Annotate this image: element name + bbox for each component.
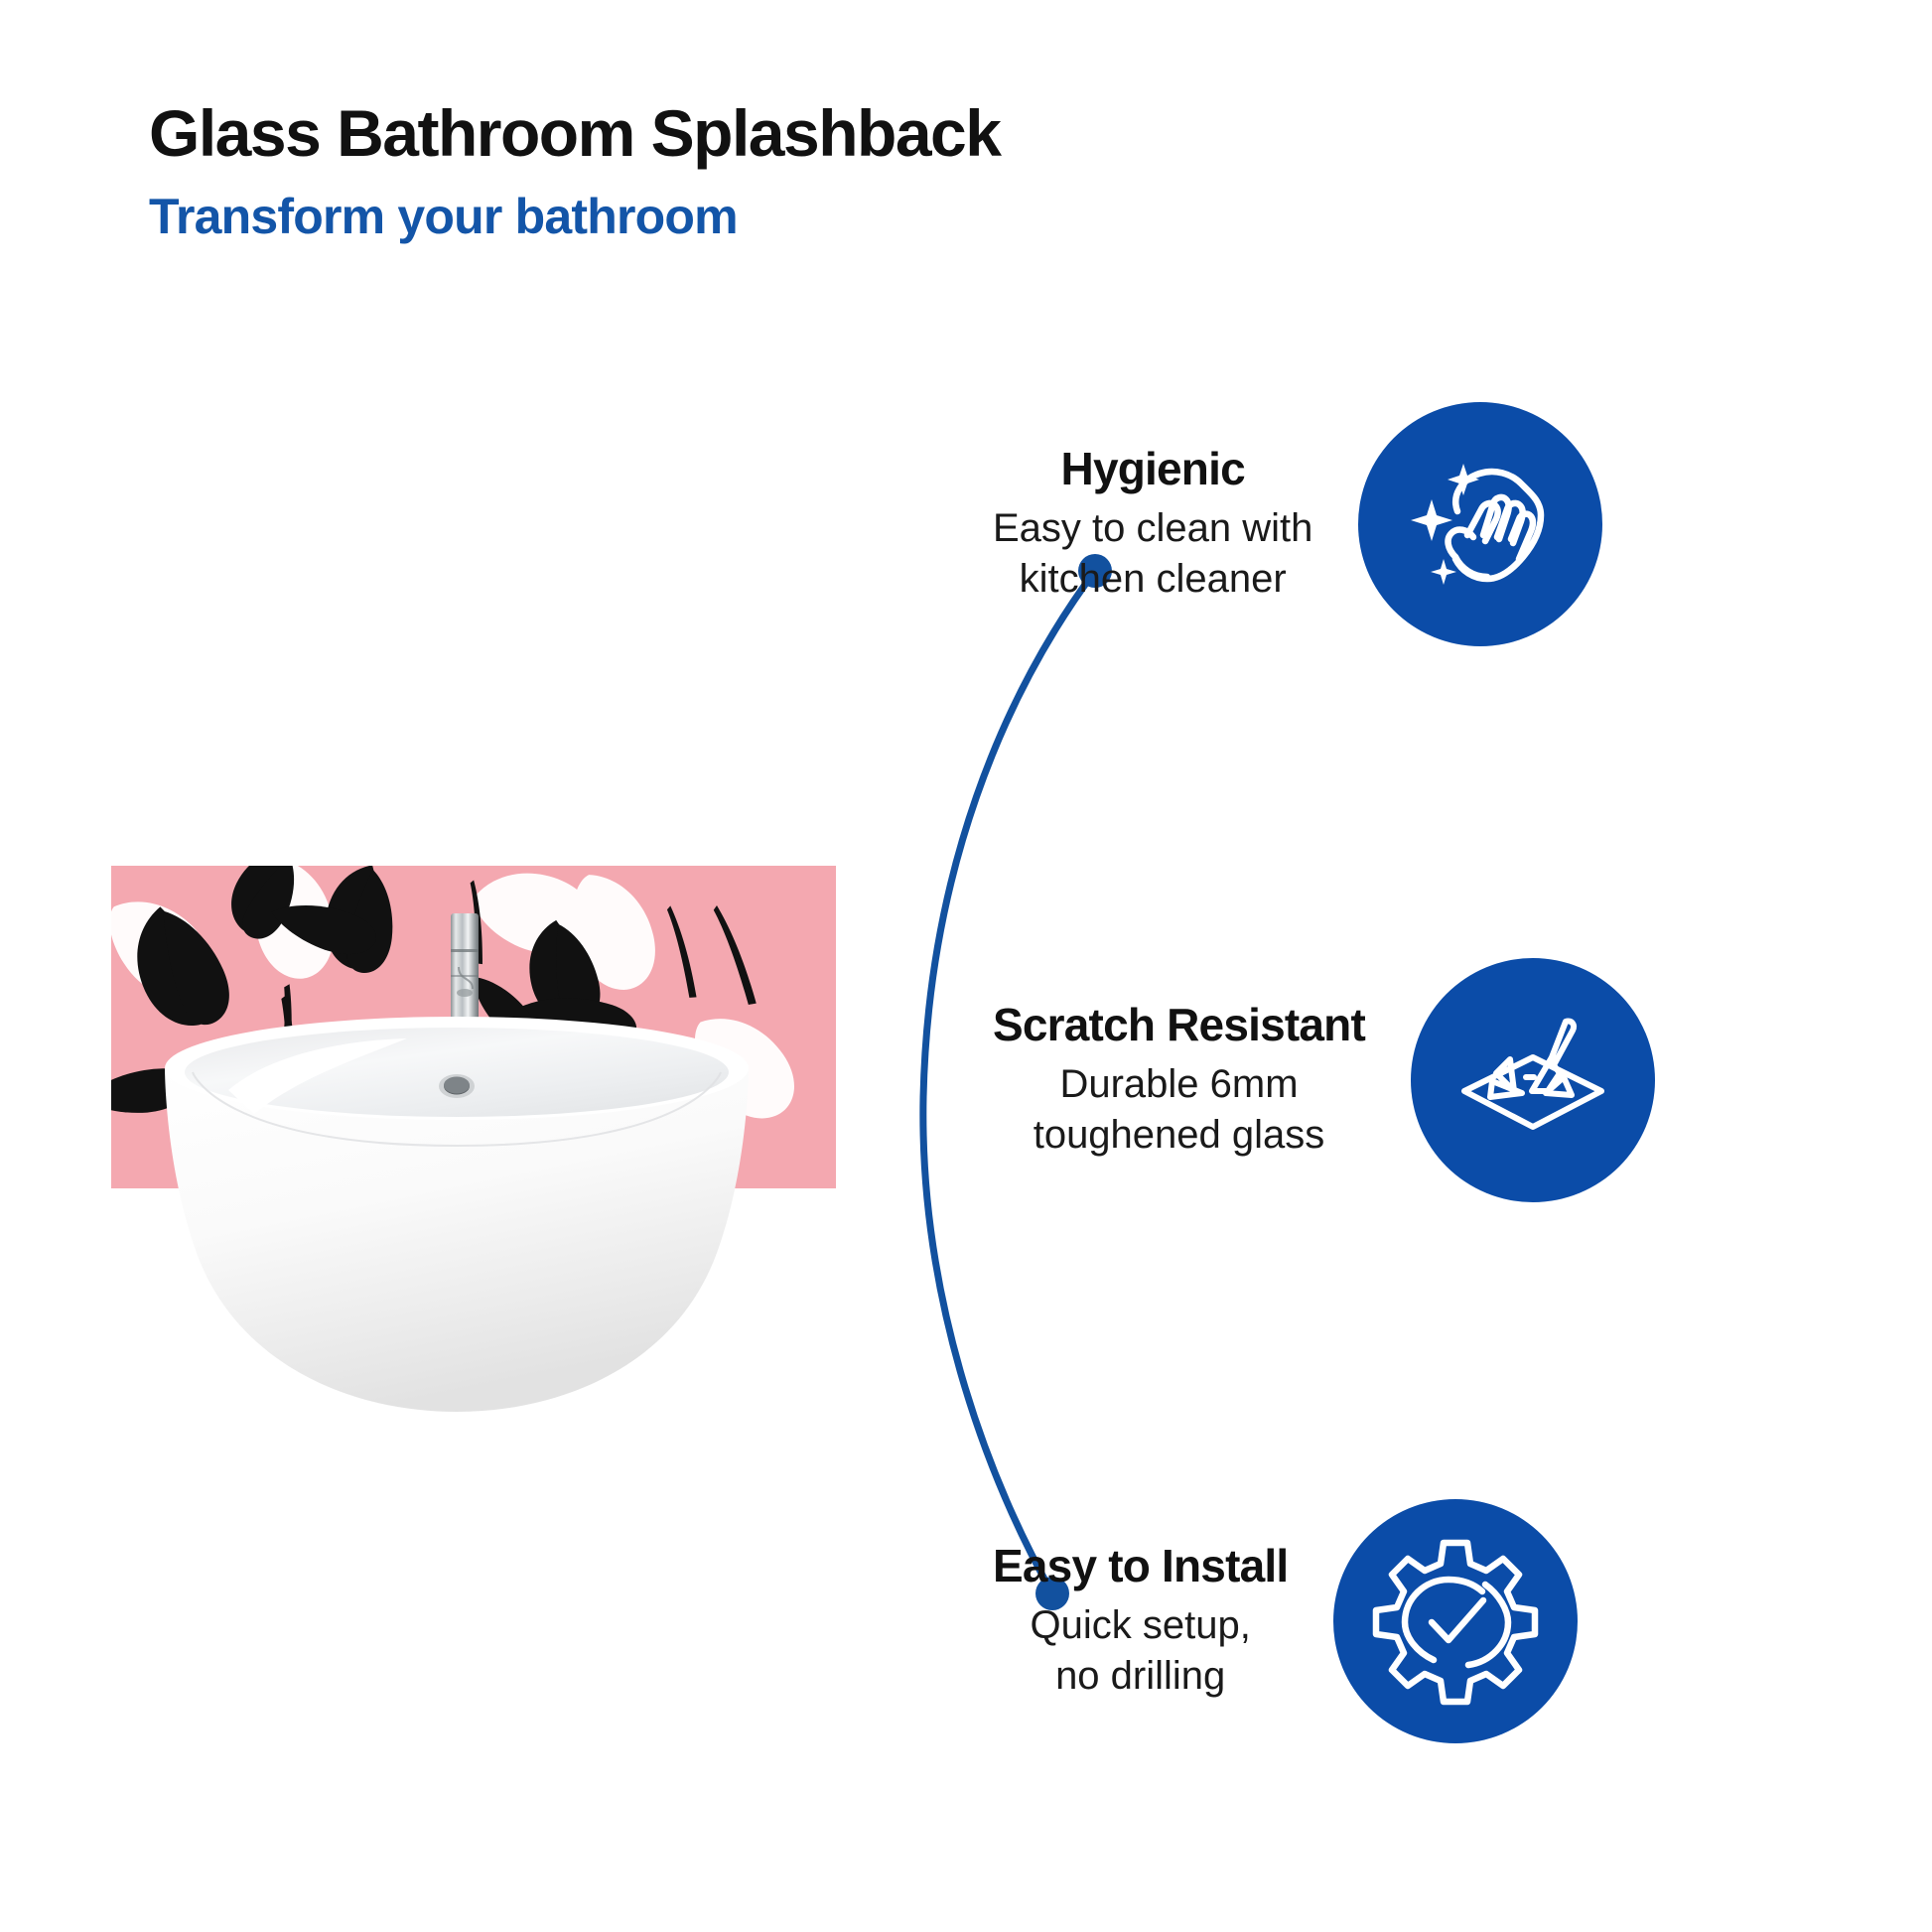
feature-scratch-resistant-title: Scratch Resistant bbox=[993, 999, 1365, 1051]
feature-hygienic-text: Hygienic Easy to clean with kitchen clea… bbox=[993, 443, 1312, 605]
page-subtitle: Transform your bathroom bbox=[149, 190, 1000, 244]
basin-tap bbox=[439, 913, 490, 1084]
infographic-page: Glass Bathroom Splashback Transform your… bbox=[0, 0, 1932, 1932]
feature-easy-to-install-title: Easy to Install bbox=[993, 1540, 1288, 1592]
feature-hygienic-desc: Easy to clean with kitchen cleaner bbox=[993, 503, 1312, 605]
feature-hygienic-title: Hygienic bbox=[993, 443, 1312, 495]
feature-easy-to-install-desc: Quick setup, no drilling bbox=[993, 1600, 1288, 1702]
feature-scratch-resistant-text: Scratch Resistant Durable 6mm toughened … bbox=[993, 999, 1365, 1161]
feature-easy-to-install-text: Easy to Install Quick setup, no drilling bbox=[993, 1540, 1288, 1702]
scratch-resistant-icon-badge bbox=[1411, 958, 1655, 1202]
easy-to-install-icon-badge bbox=[1333, 1499, 1578, 1743]
feature-scratch-resistant-desc: Durable 6mm toughened glass bbox=[993, 1059, 1365, 1161]
product-image bbox=[111, 866, 836, 1188]
page-title: Glass Bathroom Splashback bbox=[149, 99, 1000, 168]
feature-easy-to-install: Easy to Install Quick setup, no drilling bbox=[993, 1499, 1578, 1743]
header: Glass Bathroom Splashback Transform your… bbox=[149, 99, 1000, 244]
gear-checkmark-icon bbox=[1367, 1533, 1544, 1710]
feature-hygienic: Hygienic Easy to clean with kitchen clea… bbox=[993, 402, 1602, 646]
feature-scratch-resistant: Scratch Resistant Durable 6mm toughened … bbox=[993, 958, 1655, 1202]
hand-wiping-sparkle-icon bbox=[1396, 440, 1565, 609]
chrome-tap-icon bbox=[439, 913, 490, 1084]
hygienic-icon-badge bbox=[1358, 402, 1602, 646]
knife-impact-surface-icon bbox=[1449, 996, 1617, 1165]
